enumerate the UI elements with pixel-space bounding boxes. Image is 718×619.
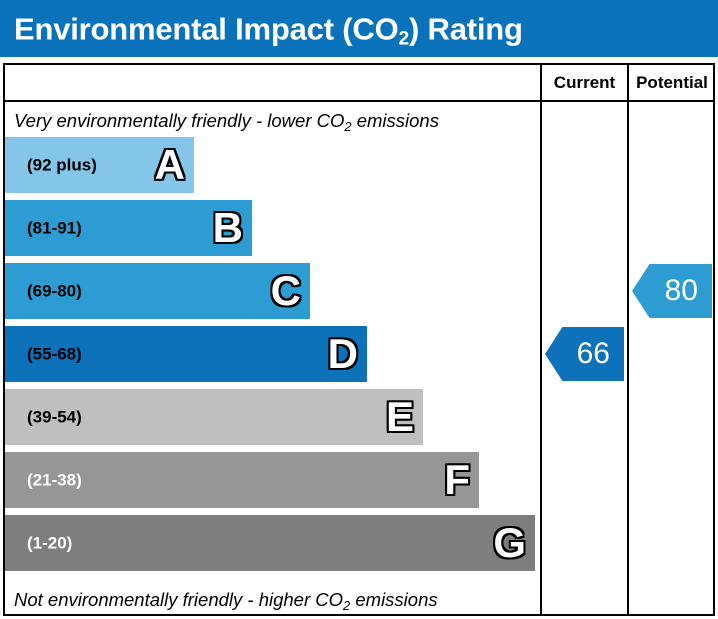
page-title-subscript: 2 <box>399 28 409 49</box>
caption-bottom-suffix: emissions <box>350 589 437 610</box>
rating-band-g: (1-20)G <box>5 515 535 571</box>
caption-top-subscript: 2 <box>344 119 351 134</box>
current-column-divider <box>540 63 542 616</box>
rating-band-f: (21-38)F <box>5 452 479 508</box>
rating-band-range-d: (55-68) <box>27 346 82 363</box>
rating-band-letter-f: F <box>444 459 470 501</box>
rating-band-letter-c: C <box>271 270 301 312</box>
page-title-prefix: Environmental Impact (CO <box>14 11 399 46</box>
caption-not-friendly: Not environmentally friendly - higher CO… <box>14 591 438 610</box>
column-header-potential: Potential <box>629 65 715 100</box>
caption-bottom-subscript: 2 <box>343 598 350 613</box>
caption-bottom-prefix: Not environmentally friendly - higher CO <box>14 589 343 610</box>
page-title-suffix: ) Rating <box>409 11 523 46</box>
caption-very-friendly: Very environmentally friendly - lower CO… <box>14 112 439 131</box>
epc-environmental-impact-chart: Environmental Impact (CO2) Rating Curren… <box>0 0 718 619</box>
rating-band-a: (92 plus)A <box>5 137 194 193</box>
rating-band-b: (81-91)B <box>5 200 252 256</box>
rating-band-range-a: (92 plus) <box>27 157 97 174</box>
rating-band-range-g: (1-20) <box>27 535 72 552</box>
rating-band-range-e: (39-54) <box>27 409 82 426</box>
current-rating-value: 66 <box>577 339 610 369</box>
caption-top-suffix: emissions <box>352 110 439 131</box>
potential-column-divider <box>627 63 629 616</box>
column-header-current: Current <box>542 65 627 100</box>
rating-band-letter-b: B <box>213 207 243 249</box>
rating-band-letter-a: A <box>155 144 185 186</box>
rating-band-range-c: (69-80) <box>27 283 82 300</box>
rating-band-range-b: (81-91) <box>27 220 82 237</box>
rating-band-d: (55-68)D <box>5 326 367 382</box>
page-title: Environmental Impact (CO2) Rating <box>14 13 523 44</box>
rating-band-range-f: (21-38) <box>27 472 82 489</box>
rating-band-letter-d: D <box>328 333 358 375</box>
caption-top-prefix: Very environmentally friendly - lower CO <box>14 110 344 131</box>
rating-band-letter-e: E <box>386 396 414 438</box>
rating-band-letter-g: G <box>493 522 526 564</box>
title-bar: Environmental Impact (CO2) Rating <box>0 0 718 57</box>
rating-band-c: (69-80)C <box>5 263 310 319</box>
potential-rating-value: 80 <box>665 276 698 306</box>
rating-band-e: (39-54)E <box>5 389 423 445</box>
header-row-divider <box>3 100 715 102</box>
